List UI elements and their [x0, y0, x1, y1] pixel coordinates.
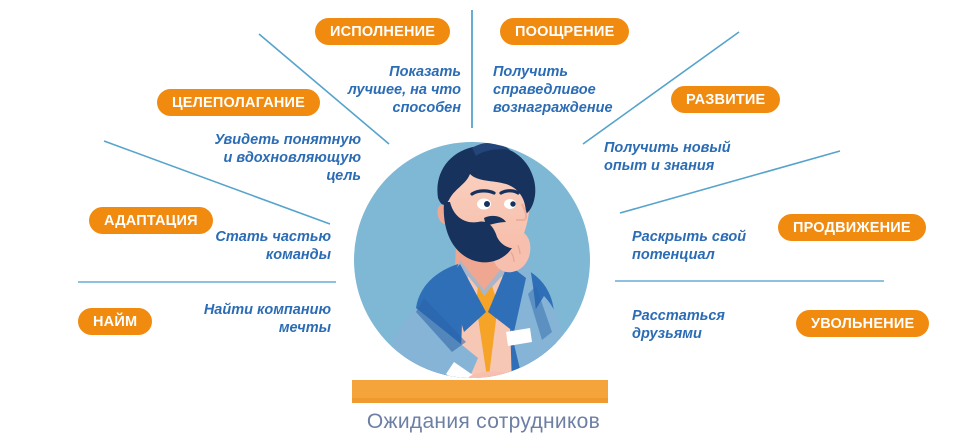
- expectation-text-ispolnenie: Показать лучшее, на что способен: [328, 63, 461, 117]
- expectation-text-pooshchrenie: Получить справедливое вознаграждение: [493, 63, 653, 117]
- pupil-far: [510, 201, 515, 206]
- stage-pill-razvitie[interactable]: РАЗВИТИЕ: [671, 86, 780, 113]
- expectation-text-celepolaganie: Увидеть понятную и вдохновляющую цель: [185, 131, 361, 185]
- expectation-text-uvolnenie: Расстаться друзьями: [632, 307, 792, 343]
- pupil-near: [484, 201, 490, 207]
- desk-edge: [352, 398, 608, 403]
- stage-pill-celepolaganie[interactable]: ЦЕЛЕПОЛАГАНИЕ: [157, 89, 320, 116]
- stage-pill-prodvizhenie[interactable]: ПРОДВИЖЕНИЕ: [778, 214, 926, 241]
- expectation-text-naym: Найти компанию мечты: [174, 301, 331, 337]
- expectation-text-adaptaciya: Стать частью команды: [191, 228, 331, 264]
- expectation-text-razvitie: Получить новый опыт и знания: [604, 139, 764, 175]
- stage-pill-uvolnenie[interactable]: УВОЛЬНЕНИЕ: [796, 310, 929, 337]
- thinking-businessman-illustration: [338, 136, 638, 408]
- stage-pill-ispolnenie[interactable]: ИСПОЛНЕНИЕ: [315, 18, 450, 45]
- infographic-canvas: ИСПОЛНЕНИЕ ЦЕЛЕПОЛАГАНИЕ АДАПТАЦИЯ НАЙМ …: [0, 0, 967, 448]
- stage-pill-pooshchrenie[interactable]: ПООЩРЕНИЕ: [500, 18, 629, 45]
- expectation-text-prodvizhenie: Раскрыть свой потенциал: [632, 228, 792, 264]
- stage-pill-naym[interactable]: НАЙМ: [78, 308, 152, 335]
- page-title: Ожидания сотрудников: [0, 410, 967, 434]
